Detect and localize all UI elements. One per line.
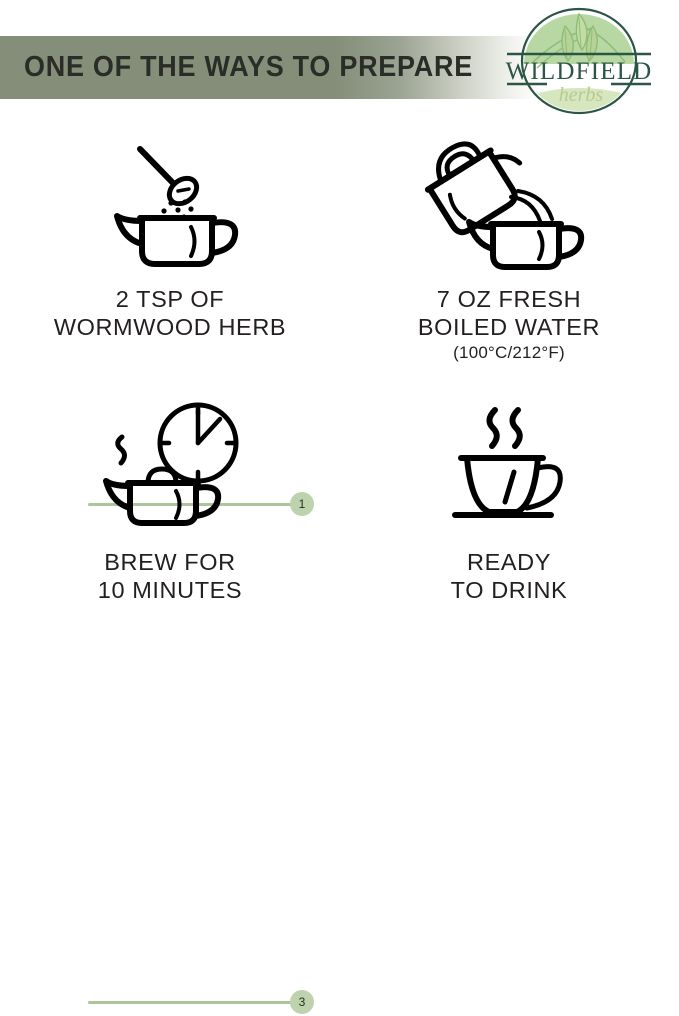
- steps-container: 2 TSP OF WORMWOOD HERB 1: [0, 130, 679, 679]
- step-rule-3: 3: [88, 990, 314, 1016]
- rule-line: [88, 1001, 296, 1004]
- step-label-2: 7 OZ FRESH BOILED WATER (100°C/212°F): [339, 285, 679, 364]
- step-line2: TO DRINK: [451, 577, 568, 603]
- teapot-with-spoon-icon: [0, 134, 340, 284]
- step-card-1: 2 TSP OF WORMWOOD HERB 1: [0, 130, 340, 396]
- page-title: ONE OF THE WAYS TO PREPARE: [24, 36, 473, 99]
- teapot-with-clock-icon: [0, 392, 340, 538]
- brand-logo: WILDFIELD herbs: [493, 6, 665, 118]
- step-card-2: 7 OZ FRESH BOILED WATER (100°C/212°F) 2: [339, 130, 679, 396]
- step-label-1: 2 TSP OF WORMWOOD HERB: [0, 285, 340, 341]
- steaming-teacup-icon: [339, 392, 679, 538]
- kettle-pouring-into-teapot-icon: [339, 134, 679, 284]
- step-label-4: READY TO DRINK: [339, 548, 679, 604]
- step-line1: READY: [467, 549, 551, 575]
- step-number-badge: 3: [290, 990, 314, 1014]
- logo-graphic: WILDFIELD herbs: [493, 6, 665, 118]
- step-line1: 2 TSP OF: [116, 286, 224, 312]
- step-line1: 7 OZ FRESH: [437, 286, 581, 312]
- step-line2: BOILED WATER: [418, 314, 600, 340]
- tea-preparation-infographic: { "header": { "title": "ONE OF THE WAYS …: [0, 0, 679, 679]
- step-line1: BREW FOR: [104, 549, 235, 575]
- step-card-4: READY TO DRINK 4: [339, 386, 679, 652]
- step-label-3: BREW FOR 10 MINUTES: [0, 548, 340, 604]
- step-card-3: BREW FOR 10 MINUTES 3: [0, 386, 340, 652]
- step-sublabel: (100°C/212°F): [339, 341, 679, 364]
- step-line2: WORMWOOD HERB: [54, 314, 286, 340]
- brand-subtitle-text: herbs: [559, 84, 604, 106]
- step-line2: 10 MINUTES: [98, 577, 242, 603]
- brand-name-text: WILDFIELD: [506, 58, 653, 85]
